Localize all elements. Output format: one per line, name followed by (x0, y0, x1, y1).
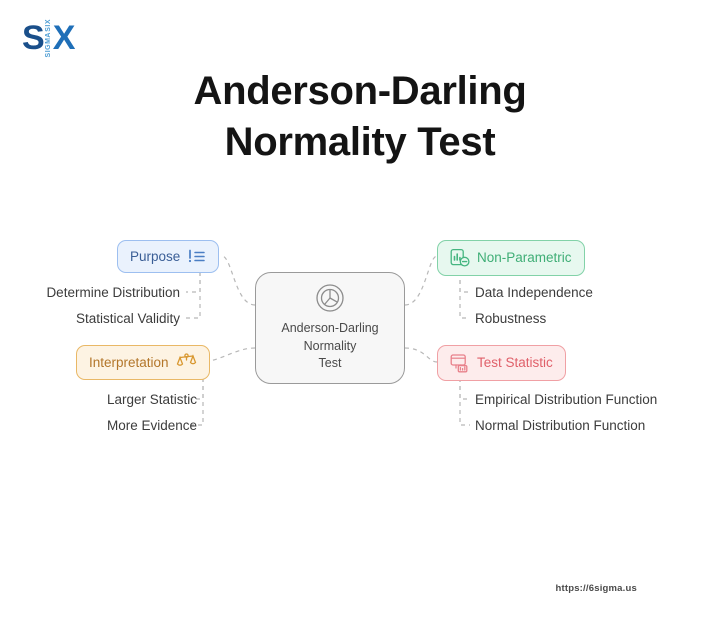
leaf-empirical-distribution-function: Empirical Distribution Function (475, 393, 657, 407)
connector-nonparametric-to-leaf-2 (460, 272, 470, 318)
center-label-line-3: Test (319, 356, 342, 370)
branch-label-purpose: Purpose (130, 250, 180, 264)
mindmap-diagram: Anderson-Darling Normality Test Purpose … (0, 0, 720, 632)
monitor-stats-icon (450, 353, 470, 373)
center-node-label: Anderson-Darling Normality Test (281, 320, 378, 373)
document-chart-minus-icon (450, 248, 470, 268)
connector-center-to-teststatistic (405, 348, 437, 362)
branch-label-nonparametric: Non-Parametric (477, 251, 572, 265)
priority-list-icon (187, 248, 206, 265)
connector-purpose-to-leaf-2 (186, 272, 200, 318)
leaf-determine-distribution: Determine Distribution (46, 286, 180, 300)
center-label-line-2: Normality (304, 339, 357, 353)
footer-url[interactable]: https://6sigma.us (555, 583, 637, 594)
connector-teststatistic-to-leaf-2 (460, 378, 470, 425)
branch-node-purpose[interactable]: Purpose (117, 240, 219, 273)
branch-node-teststatistic[interactable]: Test Statistic (437, 345, 566, 381)
branch-node-nonparametric[interactable]: Non-Parametric (437, 240, 585, 276)
balance-scales-icon (176, 353, 197, 372)
leaf-statistical-validity: Statistical Validity (76, 312, 180, 326)
leaf-more-evidence: More Evidence (107, 419, 197, 433)
center-node[interactable]: Anderson-Darling Normality Test (255, 272, 405, 384)
leaf-normal-distribution-function: Normal Distribution Function (475, 419, 645, 433)
leaf-data-independence: Data Independence (475, 286, 593, 300)
connector-center-to-purpose (222, 256, 255, 305)
pie-chart-icon (315, 283, 345, 313)
center-label-line-1: Anderson-Darling (281, 321, 378, 335)
connector-teststatistic-to-leaf-1 (460, 378, 470, 399)
branch-label-teststatistic: Test Statistic (477, 356, 553, 370)
connector-center-to-nonparametric (405, 256, 437, 305)
connector-purpose-to-leaf-1 (186, 272, 200, 292)
branch-label-interpretation: Interpretation (89, 356, 169, 370)
branch-node-interpretation[interactable]: Interpretation (76, 345, 210, 380)
leaf-robustness: Robustness (475, 312, 546, 326)
leaf-larger-statistic: Larger Statistic (107, 393, 197, 407)
